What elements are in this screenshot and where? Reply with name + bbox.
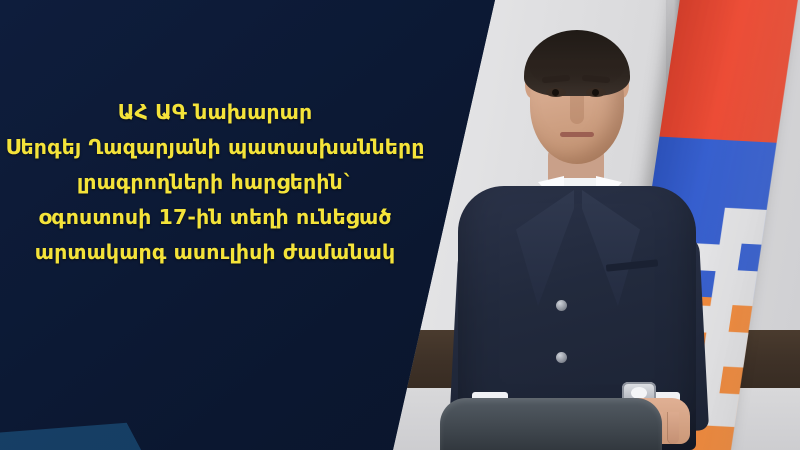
eye-right bbox=[586, 88, 606, 97]
chair-back bbox=[440, 398, 662, 450]
caption-line-2: Սերգեյ Ղազարյանի պատասխանները bbox=[0, 130, 430, 165]
caption-block: ԱՀ ԱԳ նախարար Սերգեյ Ղազարյանի պատասխանն… bbox=[0, 95, 430, 270]
nose bbox=[570, 96, 584, 124]
hair bbox=[524, 30, 630, 96]
caption-line-1: ԱՀ ԱԳ նախարար bbox=[0, 95, 430, 130]
caption-line-4: օգոստոսի 17-ին տեղի ունեցած bbox=[0, 200, 430, 235]
news-graphic: ԱՀ ԱԳ նախարար Սերգեյ Ղազարյանի պատասխանն… bbox=[0, 0, 800, 450]
eye-left bbox=[546, 88, 566, 97]
corner-accent-shape bbox=[0, 357, 148, 450]
jacket-button-lower bbox=[556, 352, 567, 363]
mouth bbox=[560, 132, 594, 137]
caption-line-5: արտակարգ ասուլիսի ժամանակ bbox=[0, 235, 430, 270]
jacket-button-upper bbox=[556, 300, 567, 311]
caption-line-3: լրագրողների հարցերին` bbox=[0, 165, 430, 200]
